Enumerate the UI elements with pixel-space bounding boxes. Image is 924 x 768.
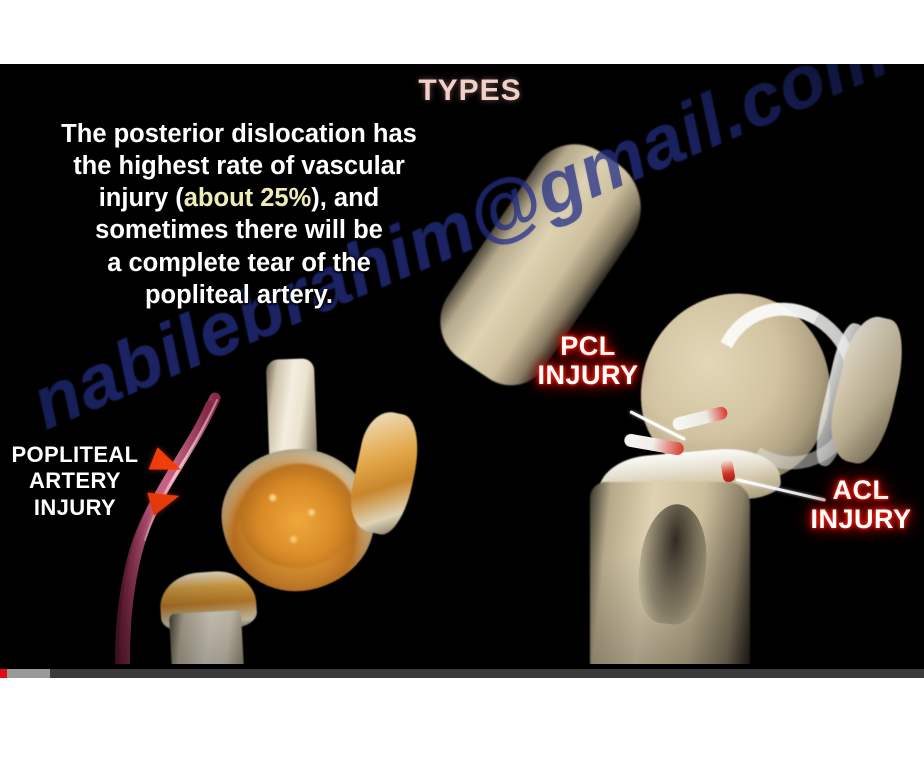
video-frame[interactable]: nabilebrahim@gmail.com TYPES The posteri… <box>0 64 924 664</box>
pcl-injury-label: PCL INJURY <box>520 332 656 390</box>
pcl-label-line-1: PCL <box>520 332 656 361</box>
video-player[interactable]: nabilebrahim@gmail.com TYPES The posteri… <box>0 64 924 678</box>
screenshot-root: nabilebrahim@gmail.com TYPES The posteri… <box>0 0 924 768</box>
caption-highlight: about 25% <box>184 184 312 212</box>
popliteal-label-line-1: POPLITEAL <box>0 442 150 468</box>
caption-line-3-pre: injury ( <box>99 184 184 212</box>
popliteal-label-line-2: ARTERY <box>0 468 150 494</box>
progress-played-track <box>0 669 7 678</box>
acl-label-line-1: ACL <box>798 476 924 505</box>
caption-line-5: a complete tear of the <box>6 247 472 279</box>
caption-line-3: injury (about 25%), and <box>6 182 472 214</box>
popliteal-artery-illustration <box>95 394 285 664</box>
caption-line-4: sometimes there will be <box>6 214 472 246</box>
pcl-label-line-2: INJURY <box>520 361 656 390</box>
popliteal-label-line-3: INJURY <box>0 495 150 521</box>
popliteal-artery-injury-label: POPLITEAL ARTERY INJURY <box>0 442 150 521</box>
caption-line-1: The posterior dislocation has <box>6 118 472 150</box>
acl-injury-label: ACL INJURY <box>798 476 924 534</box>
progress-loaded-track <box>0 669 50 678</box>
progress-remaining-track[interactable] <box>0 669 924 678</box>
left-bone-fragment-illustration <box>344 407 426 538</box>
caption-line-2: the highest rate of vascular <box>6 150 472 182</box>
caption-line-3-post: ), and <box>311 184 379 212</box>
acl-label-line-2: INJURY <box>798 505 924 534</box>
slide-caption: The posterior dislocation has the highes… <box>6 118 472 311</box>
slide-title: TYPES <box>380 74 560 108</box>
caption-line-6: popliteal artery. <box>6 279 472 311</box>
video-progress-bar[interactable] <box>0 669 924 678</box>
